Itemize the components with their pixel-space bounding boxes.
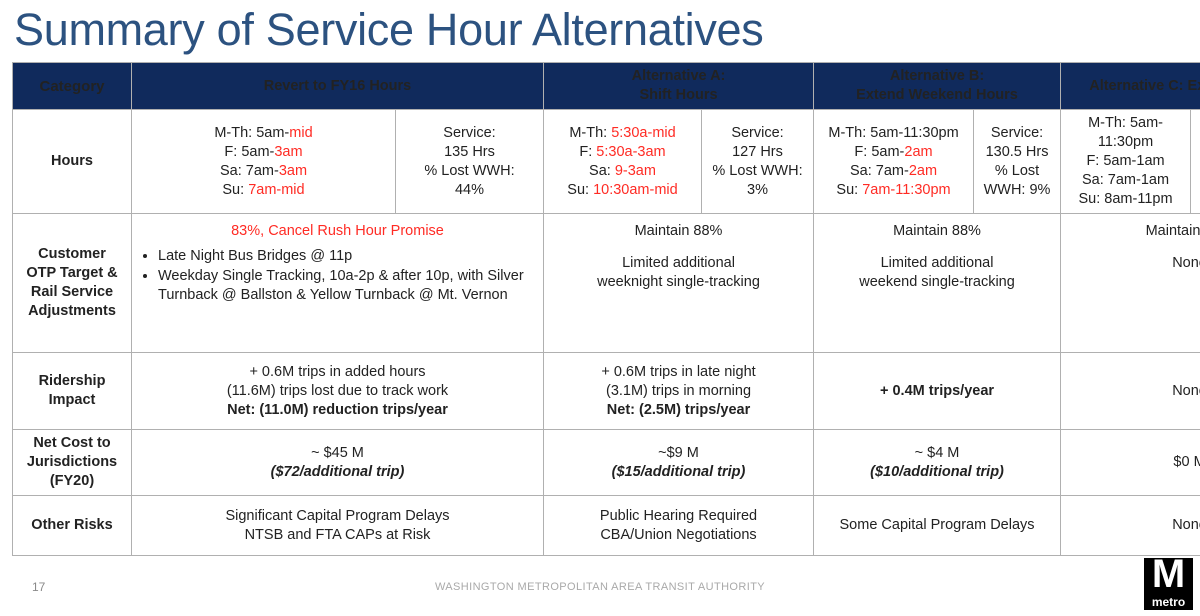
- otp-alt-b-line2: Limited additional: [820, 254, 1054, 273]
- table-header-row: Category Revert to FY16 Hours Alternativ…: [13, 63, 1200, 110]
- cell-ridership-alt-b: + 0.4M trips/year: [814, 353, 1061, 430]
- cell-hours-alt-c-service: Service: 127 Hrs % Lost WWH: n/a: [1191, 110, 1200, 214]
- hours-revert-mth: M-Th: 5am-mid: [138, 124, 389, 143]
- cell-hours-revert-schedule: M-Th: 5am-mid F: 5am-3am Sa: 7am-3am Su:…: [132, 110, 396, 214]
- cell-otp-revert: 83%, Cancel Rush Hour Promise Late Night…: [132, 214, 544, 353]
- alt-b-title-line2: Extend Weekend Hours: [820, 86, 1054, 105]
- otp-label-line4: Adjustments: [19, 302, 125, 321]
- metro-wordmark: metro: [1144, 596, 1193, 608]
- metro-logo: M metro: [1144, 558, 1193, 610]
- ridership-revert-line2: (11.6M) trips lost due to track work: [138, 382, 537, 401]
- otp-label-line2: OTP Target &: [19, 264, 125, 283]
- cost-alt-b-amount: ~ $4 M: [820, 444, 1054, 463]
- column-header-alternative-a: Alternative A: Shift Hours: [544, 63, 814, 110]
- alt-a-title-line2: Shift Hours: [550, 86, 807, 105]
- hours-alt-b-service-value: 130.5 Hrs: [980, 143, 1054, 162]
- risks-alt-a-line2: CBA/Union Negotiations: [550, 526, 807, 545]
- cost-label-line2: Jurisdictions: [19, 453, 125, 472]
- ridership-revert-line1: + 0.6M trips in added hours: [138, 363, 537, 382]
- list-item: Late Night Bus Bridges @ 11p: [158, 247, 537, 266]
- otp-label-line3: Rail Service: [19, 283, 125, 302]
- ridership-label-line2: Impact: [19, 391, 125, 410]
- hours-alt-c-line5: Su: 8am-11pm: [1067, 190, 1184, 209]
- otp-alt-c-line2: None: [1067, 254, 1200, 273]
- cell-hours-revert-service: Service: 135 Hrs % Lost WWH: 44%: [396, 110, 544, 214]
- cell-risks-revert: Significant Capital Program Delays NTSB …: [132, 496, 544, 556]
- cell-otp-alt-b: Maintain 88% Limited additional weekend …: [814, 214, 1061, 353]
- cell-ridership-alt-c: None: [1061, 353, 1200, 430]
- hours-alt-c-line1: M-Th: 5am-: [1067, 114, 1184, 133]
- cell-risks-alt-a: Public Hearing Required CBA/Union Negoti…: [544, 496, 814, 556]
- otp-alt-a-line1: Maintain 88%: [550, 222, 807, 241]
- hours-alt-a-sa: Sa: 9-3am: [550, 162, 695, 181]
- otp-revert-bullet-list: Late Night Bus Bridges @ 11p Weekday Sin…: [138, 247, 537, 305]
- hours-alt-c-line2: 11:30pm: [1067, 133, 1184, 152]
- ridership-alt-a-line2: (3.1M) trips in morning: [550, 382, 807, 401]
- spacer: [550, 241, 807, 254]
- table-row-hours: Hours M-Th: 5am-mid F: 5am-3am Sa: 7am-3…: [13, 110, 1200, 214]
- cell-ridership-revert: + 0.6M trips in added hours (11.6M) trip…: [132, 353, 544, 430]
- cell-hours-alt-b-schedule: M-Th: 5am-11:30pm F: 5am-2am Sa: 7am-2am…: [814, 110, 974, 214]
- otp-alt-c-line1: Maintain 88%: [1067, 222, 1200, 241]
- cost-label-line1: Net Cost to: [19, 434, 125, 453]
- hours-alt-b-mth: M-Th: 5am-11:30pm: [820, 124, 967, 143]
- footer-agency-name: WASHINGTON METROPOLITAN AREA TRANSIT AUT…: [0, 581, 1200, 593]
- cell-cost-revert: ~ $45 M ($72/additional trip): [132, 430, 544, 496]
- hours-alt-c-line4: Sa: 7am-1am: [1067, 171, 1184, 190]
- list-item: Weekday Single Tracking, 10a-2p & after …: [158, 267, 537, 305]
- spacer: [820, 241, 1054, 254]
- cost-alt-a-per-trip: ($15/additional trip): [550, 463, 807, 482]
- otp-revert-headline: 83%, Cancel Rush Hour Promise: [138, 222, 537, 241]
- ridership-alt-a-line1: + 0.6M trips in late night: [550, 363, 807, 382]
- cell-risks-alt-c: None: [1061, 496, 1200, 556]
- hours-alt-a-mth: M-Th: 5:30a-mid: [550, 124, 695, 143]
- hours-alt-a-su: Su: 10:30am-mid: [550, 181, 695, 200]
- cell-otp-alt-a: Maintain 88% Limited additional weeknigh…: [544, 214, 814, 353]
- cell-cost-alt-a: ~$9 M ($15/additional trip): [544, 430, 814, 496]
- summary-table-wrapper: Category Revert to FY16 Hours Alternativ…: [12, 62, 1188, 556]
- row-label-other-risks: Other Risks: [13, 496, 132, 556]
- hours-revert-service-value: 135 Hrs: [402, 143, 537, 162]
- cell-hours-alt-a-service: Service: 127 Hrs % Lost WWH: 3%: [702, 110, 814, 214]
- cost-revert-amount: ~ $45 M: [138, 444, 537, 463]
- ridership-revert-net: Net: (11.0M) reduction trips/year: [138, 401, 537, 420]
- hours-alt-b-sa: Sa: 7am-2am: [820, 162, 967, 181]
- column-header-alternative-b: Alternative B: Extend Weekend Hours: [814, 63, 1061, 110]
- hours-revert-wwh-value: 44%: [402, 181, 537, 200]
- hours-revert-su: Su: 7am-mid: [138, 181, 389, 200]
- otp-alt-b-line3: weekend single-tracking: [820, 273, 1054, 292]
- cost-revert-per-trip: ($72/additional trip): [138, 463, 537, 482]
- otp-alt-b-line1: Maintain 88%: [820, 222, 1054, 241]
- hours-alt-b-su: Su: 7am-11:30pm: [820, 181, 967, 200]
- hours-alt-b-service-label: Service:: [980, 124, 1054, 143]
- cell-hours-alt-c-schedule: M-Th: 5am- 11:30pm F: 5am-1am Sa: 7am-1a…: [1061, 110, 1191, 214]
- risks-revert-line1: Significant Capital Program Delays: [138, 507, 537, 526]
- table-row-otp-adjustments: Customer OTP Target & Rail Service Adjus…: [13, 214, 1200, 353]
- otp-label-line1: Customer: [19, 245, 125, 264]
- cell-risks-alt-b: Some Capital Program Delays: [814, 496, 1061, 556]
- row-label-hours: Hours: [13, 110, 132, 214]
- table-row-other-risks: Other Risks Significant Capital Program …: [13, 496, 1200, 556]
- hours-revert-service-label: Service:: [402, 124, 537, 143]
- hours-alt-b-wwh-value: WWH: 9%: [980, 181, 1054, 200]
- metro-m-mark: M: [1144, 554, 1193, 594]
- hours-alt-a-wwh-label: % Lost WWH:: [708, 162, 807, 181]
- hours-alt-c-line3: F: 5am-1am: [1067, 152, 1184, 171]
- otp-alt-a-line3: weeknight single-tracking: [550, 273, 807, 292]
- row-label-ridership-impact: Ridership Impact: [13, 353, 132, 430]
- cell-hours-alt-b-service: Service: 130.5 Hrs % Lost WWH: 9%: [974, 110, 1061, 214]
- hours-alt-a-f: F: 5:30a-3am: [550, 143, 695, 162]
- column-header-alternative-c: Alternative C: Existing Hours: [1061, 63, 1200, 110]
- column-header-category: Category: [13, 63, 132, 110]
- table-row-ridership-impact: Ridership Impact + 0.6M trips in added h…: [13, 353, 1200, 430]
- hours-alt-a-service-label: Service:: [708, 124, 807, 143]
- hours-revert-sa: Sa: 7am-3am: [138, 162, 389, 181]
- hours-alt-a-service-value: 127 Hrs: [708, 143, 807, 162]
- hours-alt-a-wwh-value: 3%: [708, 181, 807, 200]
- cost-alt-a-amount: ~$9 M: [550, 444, 807, 463]
- cell-cost-alt-c: $0 M: [1061, 430, 1200, 496]
- alt-a-title-line1: Alternative A:: [550, 67, 807, 86]
- cell-cost-alt-b: ~ $4 M ($10/additional trip): [814, 430, 1061, 496]
- otp-alt-a-line2: Limited additional: [550, 254, 807, 273]
- page-title: Summary of Service Hour Alternatives: [14, 2, 763, 58]
- risks-alt-a-line1: Public Hearing Required: [550, 507, 807, 526]
- cell-ridership-alt-a: + 0.6M trips in late night (3.1M) trips …: [544, 353, 814, 430]
- row-label-net-cost: Net Cost to Jurisdictions (FY20): [13, 430, 132, 496]
- table-row-net-cost: Net Cost to Jurisdictions (FY20) ~ $45 M…: [13, 430, 1200, 496]
- ridership-label-line1: Ridership: [19, 372, 125, 391]
- cost-label-line3: (FY20): [19, 472, 125, 491]
- hours-alt-b-f: F: 5am-2am: [820, 143, 967, 162]
- cell-hours-alt-a-schedule: M-Th: 5:30a-mid F: 5:30a-3am Sa: 9-3am S…: [544, 110, 702, 214]
- cost-alt-b-per-trip: ($10/additional trip): [820, 463, 1054, 482]
- cell-otp-alt-c: Maintain 88% None: [1061, 214, 1200, 353]
- column-header-revert-fy16: Revert to FY16 Hours: [132, 63, 544, 110]
- row-label-otp-adjustments: Customer OTP Target & Rail Service Adjus…: [13, 214, 132, 353]
- hours-alt-b-wwh-label: % Lost: [980, 162, 1054, 181]
- spacer: [1067, 241, 1200, 254]
- hours-revert-f: F: 5am-3am: [138, 143, 389, 162]
- service-hour-alternatives-table: Category Revert to FY16 Hours Alternativ…: [12, 62, 1200, 556]
- alt-b-title-line1: Alternative B:: [820, 67, 1054, 86]
- ridership-alt-a-net: Net: (2.5M) trips/year: [550, 401, 807, 420]
- risks-revert-line2: NTSB and FTA CAPs at Risk: [138, 526, 537, 545]
- hours-revert-wwh-label: % Lost WWH:: [402, 162, 537, 181]
